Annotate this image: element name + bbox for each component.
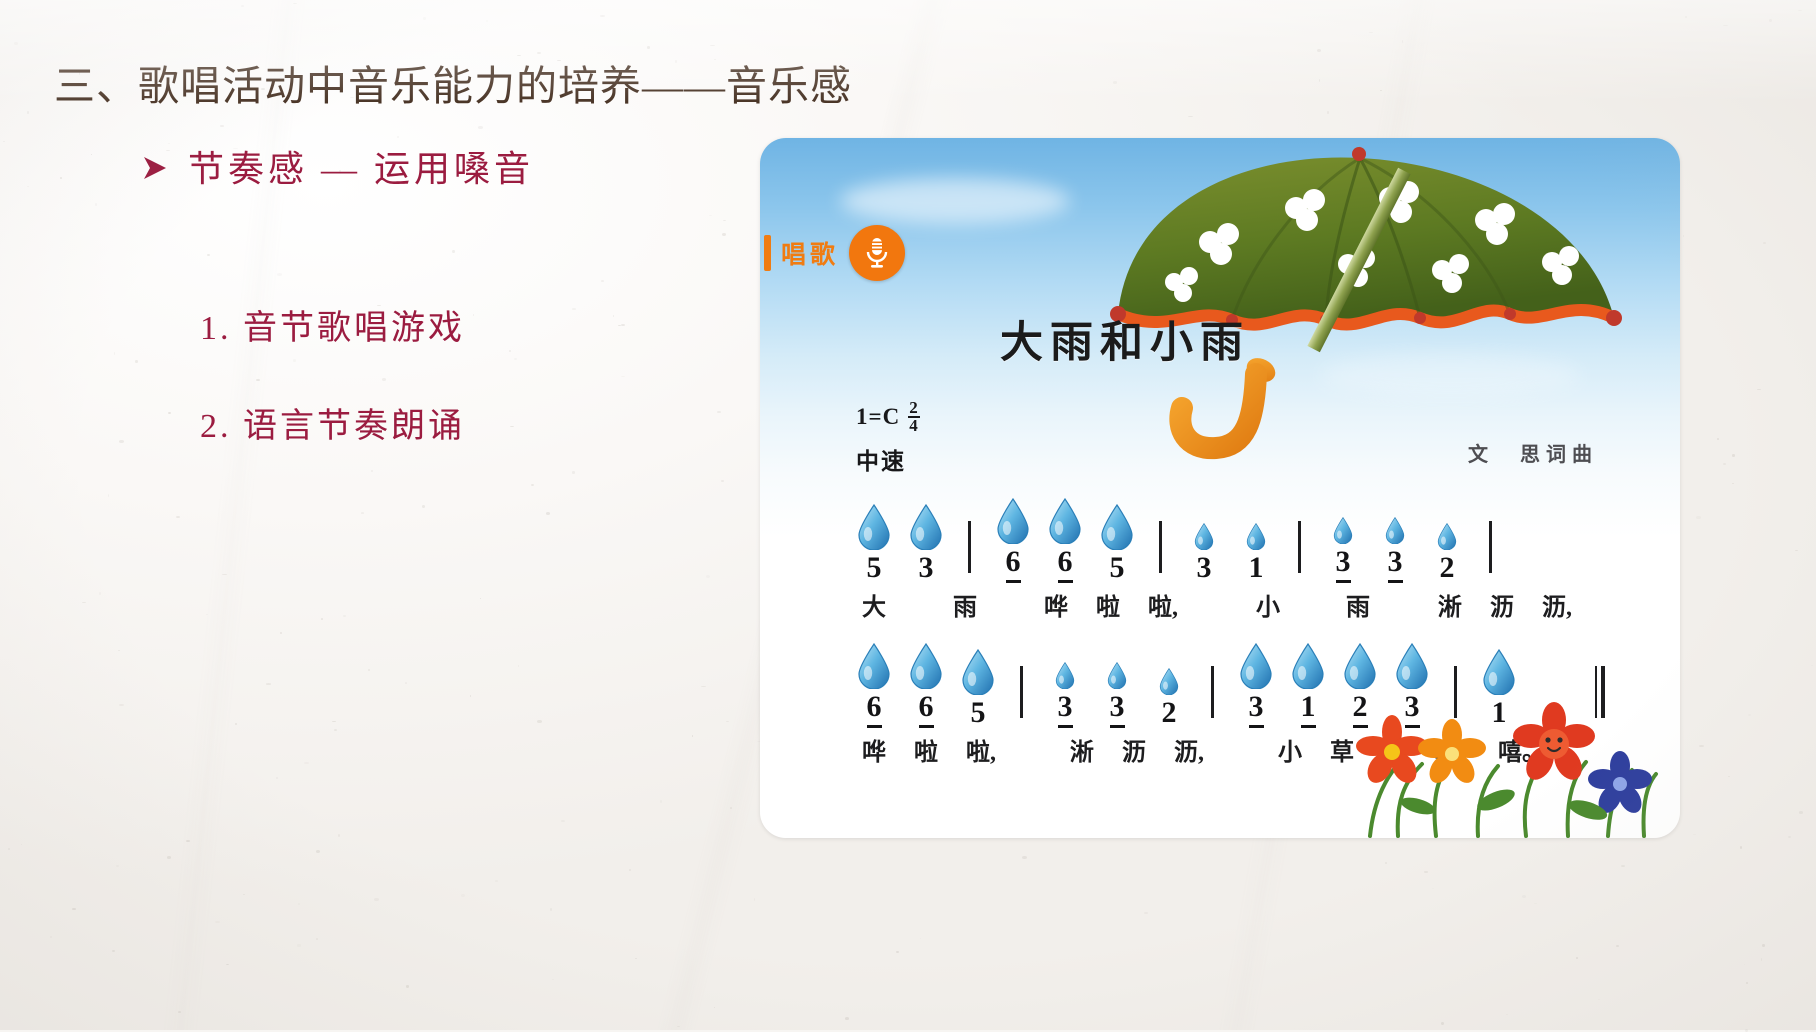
note: 5 xyxy=(1091,492,1143,583)
raindrop-icon xyxy=(1385,486,1405,544)
slide-title: 三、歌唱活动中音乐能力的培养——音乐感 xyxy=(54,52,852,112)
note: 5 xyxy=(952,637,1004,728)
note-number: 5 xyxy=(867,553,882,583)
raindrop-icon xyxy=(1291,631,1325,689)
note-number: 2 xyxy=(1162,698,1177,728)
raindrop-icon xyxy=(1437,492,1457,550)
lyric-syllable: 沥, xyxy=(1174,732,1204,767)
note-number: 3 xyxy=(1197,553,1212,583)
raindrop-icon xyxy=(1239,631,1273,689)
barline xyxy=(1298,521,1301,573)
key-label: 1=C xyxy=(856,404,900,430)
note: 3 xyxy=(1091,631,1143,728)
lyric-syllable: 小 xyxy=(1278,732,1302,767)
note: 1 xyxy=(1230,492,1282,583)
note-number: 1 xyxy=(1249,553,1264,583)
lyric-syllable: 淅 xyxy=(1070,732,1094,767)
raindrop-icon xyxy=(996,486,1030,544)
raindrop-icon xyxy=(1107,631,1127,689)
note: 1 xyxy=(1282,631,1334,728)
note-number: 5 xyxy=(1110,553,1125,583)
note: 3 xyxy=(1178,492,1230,583)
lyric-syllable: 啦 xyxy=(914,732,938,767)
time-signature-denominator: 4 xyxy=(909,418,919,434)
note-number: 1 xyxy=(1301,692,1316,728)
list-item: 1. 音节歌唱游戏 xyxy=(200,300,465,349)
note-number: 3 xyxy=(1336,547,1351,583)
singing-badge: 唱歌 xyxy=(760,224,905,282)
raindrop-icon xyxy=(909,631,943,689)
bullet-label: 节奏感 — 运用嗓音 xyxy=(188,140,534,192)
slide-canvas: 三、歌唱活动中音乐能力的培养——音乐感 节奏感 — 运用嗓音 1. 音节歌唱游戏… xyxy=(0,0,1816,1030)
lyric-syllable: 啦, xyxy=(1148,587,1178,622)
lyric-syllable: 雨 xyxy=(953,587,977,622)
note-number: 3 xyxy=(1388,547,1403,583)
song-title: 大雨和小雨 xyxy=(760,308,1680,370)
raindrop-icon xyxy=(1194,492,1214,550)
note: 3 xyxy=(1230,631,1282,728)
note: 3 xyxy=(1369,486,1421,583)
cloud-wisp xyxy=(840,178,1070,224)
note-number: 3 xyxy=(1058,692,1073,728)
lyric-syllable: 沥, xyxy=(1542,587,1572,622)
raindrop-icon xyxy=(1246,492,1266,550)
raindrop-icon xyxy=(857,492,891,550)
raindrop-icon xyxy=(909,492,943,550)
barline xyxy=(968,521,971,573)
note: 3 xyxy=(900,492,952,583)
barline xyxy=(1159,521,1162,573)
lyric-syllable: 雨 xyxy=(1346,587,1370,622)
raindrop-icon xyxy=(1159,637,1179,695)
notation-staff-line: 5 3 xyxy=(848,486,1640,583)
note-number: 3 xyxy=(1249,692,1264,728)
arrow-right-icon xyxy=(140,153,170,183)
note-number: 5 xyxy=(971,698,986,728)
lyric-syllable: 啦, xyxy=(966,732,996,767)
bullet-row: 节奏感 — 运用嗓音 xyxy=(140,140,534,192)
lyric-syllable: 沥 xyxy=(1122,732,1146,767)
barline xyxy=(1211,666,1214,718)
note-number: 6 xyxy=(919,692,934,728)
note: 6 xyxy=(848,631,900,728)
note: 2 xyxy=(1421,492,1473,583)
raindrop-icon xyxy=(1048,486,1082,544)
note: 6 xyxy=(1039,486,1091,583)
list-item: 2. 语言节奏朗诵 xyxy=(200,398,465,447)
raindrop-icon xyxy=(1055,631,1075,689)
badge-label: 唱歌 xyxy=(781,235,839,271)
note-number: 6 xyxy=(1058,547,1073,583)
lyric-syllable: 哗 xyxy=(1044,587,1068,622)
note-number: 2 xyxy=(1440,553,1455,583)
note-number: 3 xyxy=(919,553,934,583)
lyric-syllable: 淅 xyxy=(1438,587,1462,622)
note: 2 xyxy=(1143,637,1195,728)
flowers-illustration xyxy=(1340,678,1670,838)
note-number: 6 xyxy=(1006,547,1021,583)
note: 5 xyxy=(848,492,900,583)
songbook-photo: 唱歌 xyxy=(760,138,1680,838)
raindrop-icon xyxy=(1100,492,1134,550)
barline xyxy=(1020,666,1023,718)
note: 6 xyxy=(987,486,1039,583)
time-signature-numerator: 2 xyxy=(908,400,920,418)
lyrics-line: 大雨哗啦啦,小雨淅沥沥, xyxy=(848,587,1640,617)
raindrop-icon xyxy=(1333,486,1353,544)
key-signature-block: 1=C 2 4 中速 xyxy=(856,400,920,476)
lyric-syllable: 大 xyxy=(862,587,886,622)
raindrop-icon xyxy=(961,637,995,695)
note-number: 3 xyxy=(1110,692,1125,728)
note-number: 6 xyxy=(867,692,882,728)
note: 6 xyxy=(900,631,952,728)
time-signature: 2 4 xyxy=(908,400,920,433)
badge-bar xyxy=(764,235,771,271)
raindrop-icon xyxy=(857,631,891,689)
note: 3 xyxy=(1039,631,1091,728)
composer-credit: 文 思词曲 xyxy=(1468,438,1598,467)
barline xyxy=(1489,521,1492,573)
microphone-icon xyxy=(849,225,905,281)
note: 3 xyxy=(1317,486,1369,583)
lyric-syllable: 啦 xyxy=(1096,587,1120,622)
lyric-syllable: 沥 xyxy=(1490,587,1514,622)
tempo-label: 中速 xyxy=(856,442,920,476)
lyric-syllable: 小 xyxy=(1256,587,1280,622)
key-line: 1=C 2 4 xyxy=(856,400,920,433)
lyric-syllable: 哗 xyxy=(862,732,886,767)
